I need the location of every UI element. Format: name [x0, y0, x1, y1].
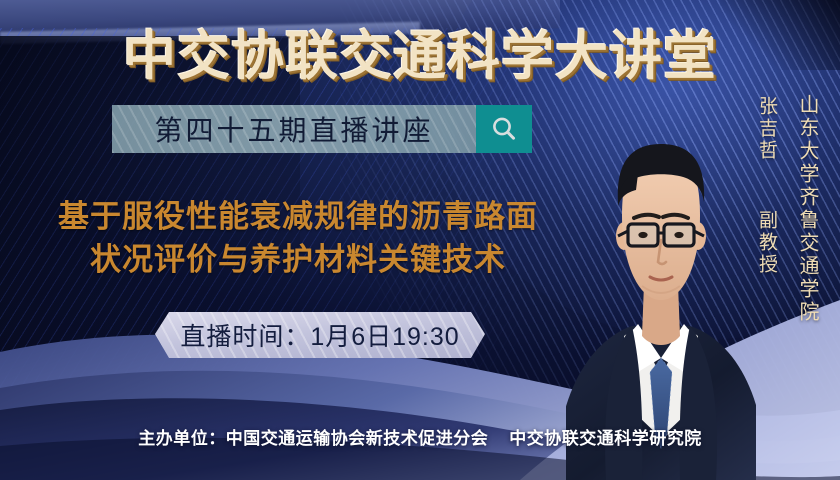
- page-title: 中交协联交通科学大讲堂: [0, 14, 840, 90]
- speaker-name: 张吉哲 副教授: [753, 96, 780, 276]
- search-button[interactable]: [476, 105, 532, 153]
- broadcast-time-badge: 直播时间：1月6日19:30: [155, 312, 485, 358]
- topic-line-2: 状况评价与养护材料关键技术: [18, 239, 578, 282]
- organizer-footer: 主办单位：中国交通运输协会新技术促进分会 中交协联交通科学研究院: [0, 424, 840, 449]
- session-label-container: 第四十五期直播讲座: [112, 105, 476, 153]
- search-icon: [489, 114, 519, 144]
- speaker-portrait: [566, 86, 756, 480]
- session-bar: 第四十五期直播讲座: [112, 105, 532, 153]
- topic-line-1: 基于服役性能衰减规律的沥青路面: [18, 196, 578, 239]
- topic-title: 基于服役性能衰减规律的沥青路面 状况评价与养护材料关键技术: [18, 196, 578, 282]
- broadcast-time-label: 直播时间：1月6日19:30: [180, 317, 459, 353]
- speaker-affiliation: 山东大学齐鲁交通学院: [793, 94, 822, 324]
- session-label: 第四十五期直播讲座: [154, 109, 433, 149]
- webinar-poster: 中交协联交通科学大讲堂 第四十五期直播讲座 基于服役性能衰减规律的沥青路面 状况…: [0, 0, 840, 480]
